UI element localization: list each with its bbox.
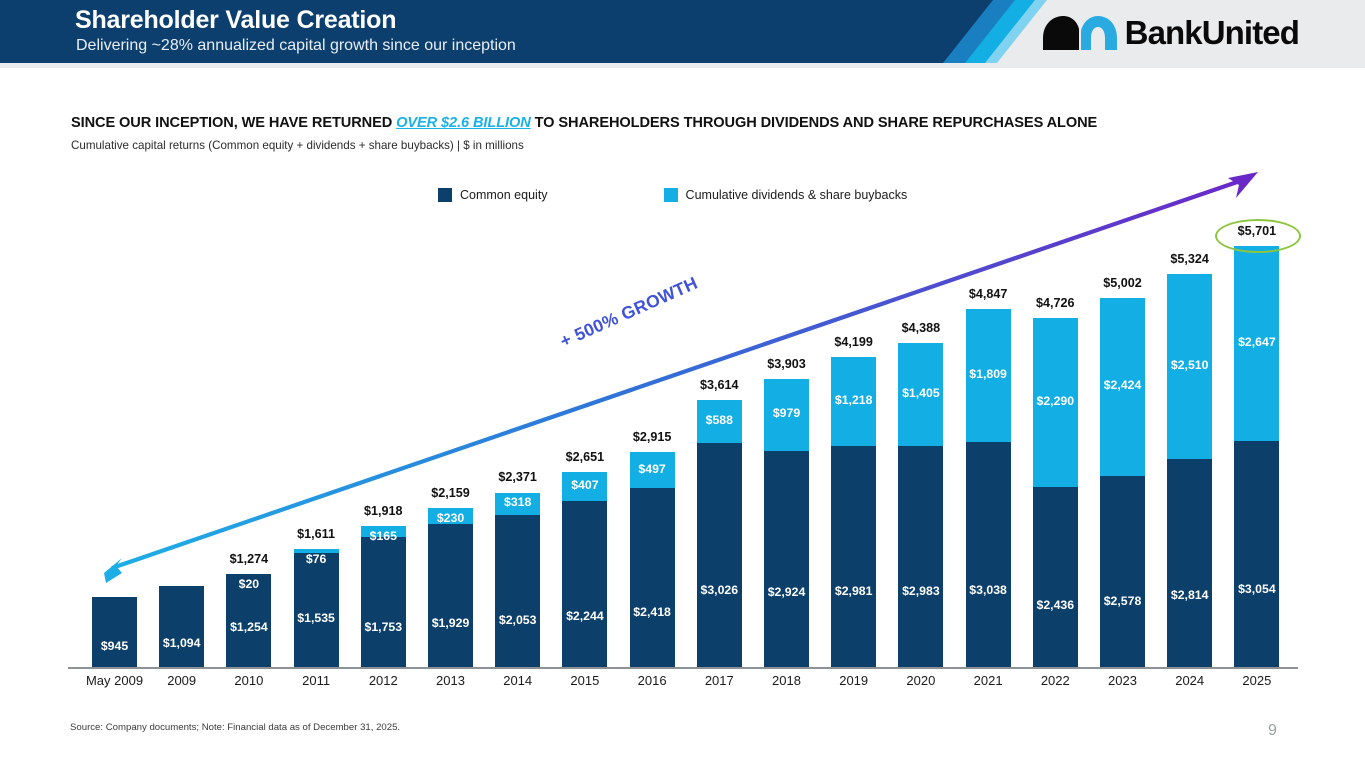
- headline: SINCE OUR INCEPTION, WE HAVE RETURNED OV…: [71, 115, 1097, 131]
- legend-swatch-navy: [438, 188, 452, 202]
- headline-highlight: OVER $2.6 BILLION: [396, 115, 531, 131]
- headline-before: SINCE OUR INCEPTION, WE HAVE RETURNED: [71, 115, 396, 131]
- chart-legend: Common equity Cumulative dividends & sha…: [438, 188, 907, 202]
- legend-item-common-equity: Common equity: [438, 188, 548, 202]
- legend-item-dividends-buybacks: Cumulative dividends & share buybacks: [664, 188, 908, 202]
- page-number: 9: [1268, 722, 1277, 740]
- brand-logo: BankUnited: [1041, 11, 1299, 53]
- legend-label-dividends-buybacks: Cumulative dividends & share buybacks: [686, 188, 908, 202]
- brand-name: BankUnited: [1125, 16, 1299, 49]
- bankunited-arch-icon: [1041, 12, 1119, 52]
- legend-swatch-cyan: [664, 188, 678, 202]
- legend-label-common-equity: Common equity: [460, 188, 548, 202]
- source-note: Source: Company documents; Note: Financi…: [70, 722, 400, 733]
- headline-after: TO SHAREHOLDERS THROUGH DIVIDENDS AND SH…: [531, 115, 1098, 131]
- headline-subtitle: Cumulative capital returns (Common equit…: [71, 139, 524, 152]
- header-underline: [0, 63, 1365, 68]
